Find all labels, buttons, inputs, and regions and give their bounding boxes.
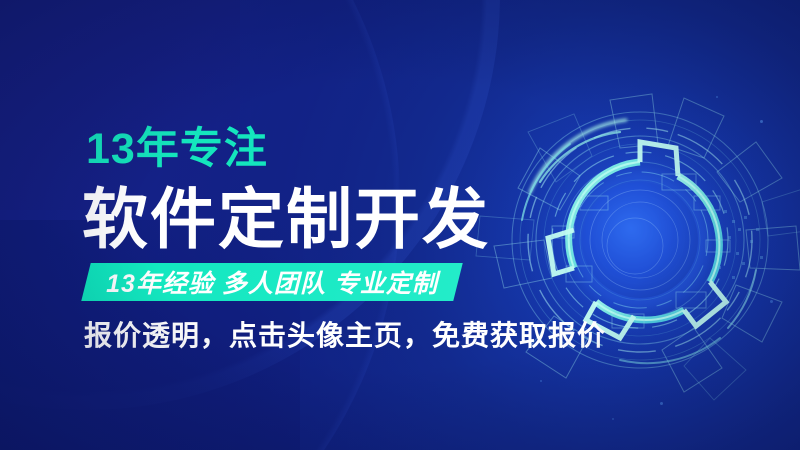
feature-pill: 13年经验 多人团队 专业定制	[86, 263, 458, 301]
background-speck	[540, 380, 542, 382]
eyebrow-text: 13年专注	[86, 128, 268, 171]
headline-block: 13年专注 软件定制开发 13年经验 多人团队 专业定制 报价透明，点击头像主页…	[0, 0, 520, 450]
background-speck	[716, 96, 718, 98]
background-speck	[770, 300, 773, 303]
background-speck	[760, 120, 763, 123]
call-to-action-text: 报价透明，点击头像主页，免费获取报价	[84, 322, 606, 350]
main-headline: 软件定制开发	[82, 186, 490, 252]
promo-banner: 13年专注 软件定制开发 13年经验 多人团队 专业定制 报价透明，点击头像主页…	[0, 0, 800, 450]
background-speck	[612, 418, 614, 420]
background-speck	[660, 402, 663, 405]
feature-pill-label: 13年经验 多人团队 专业定制	[86, 263, 458, 301]
